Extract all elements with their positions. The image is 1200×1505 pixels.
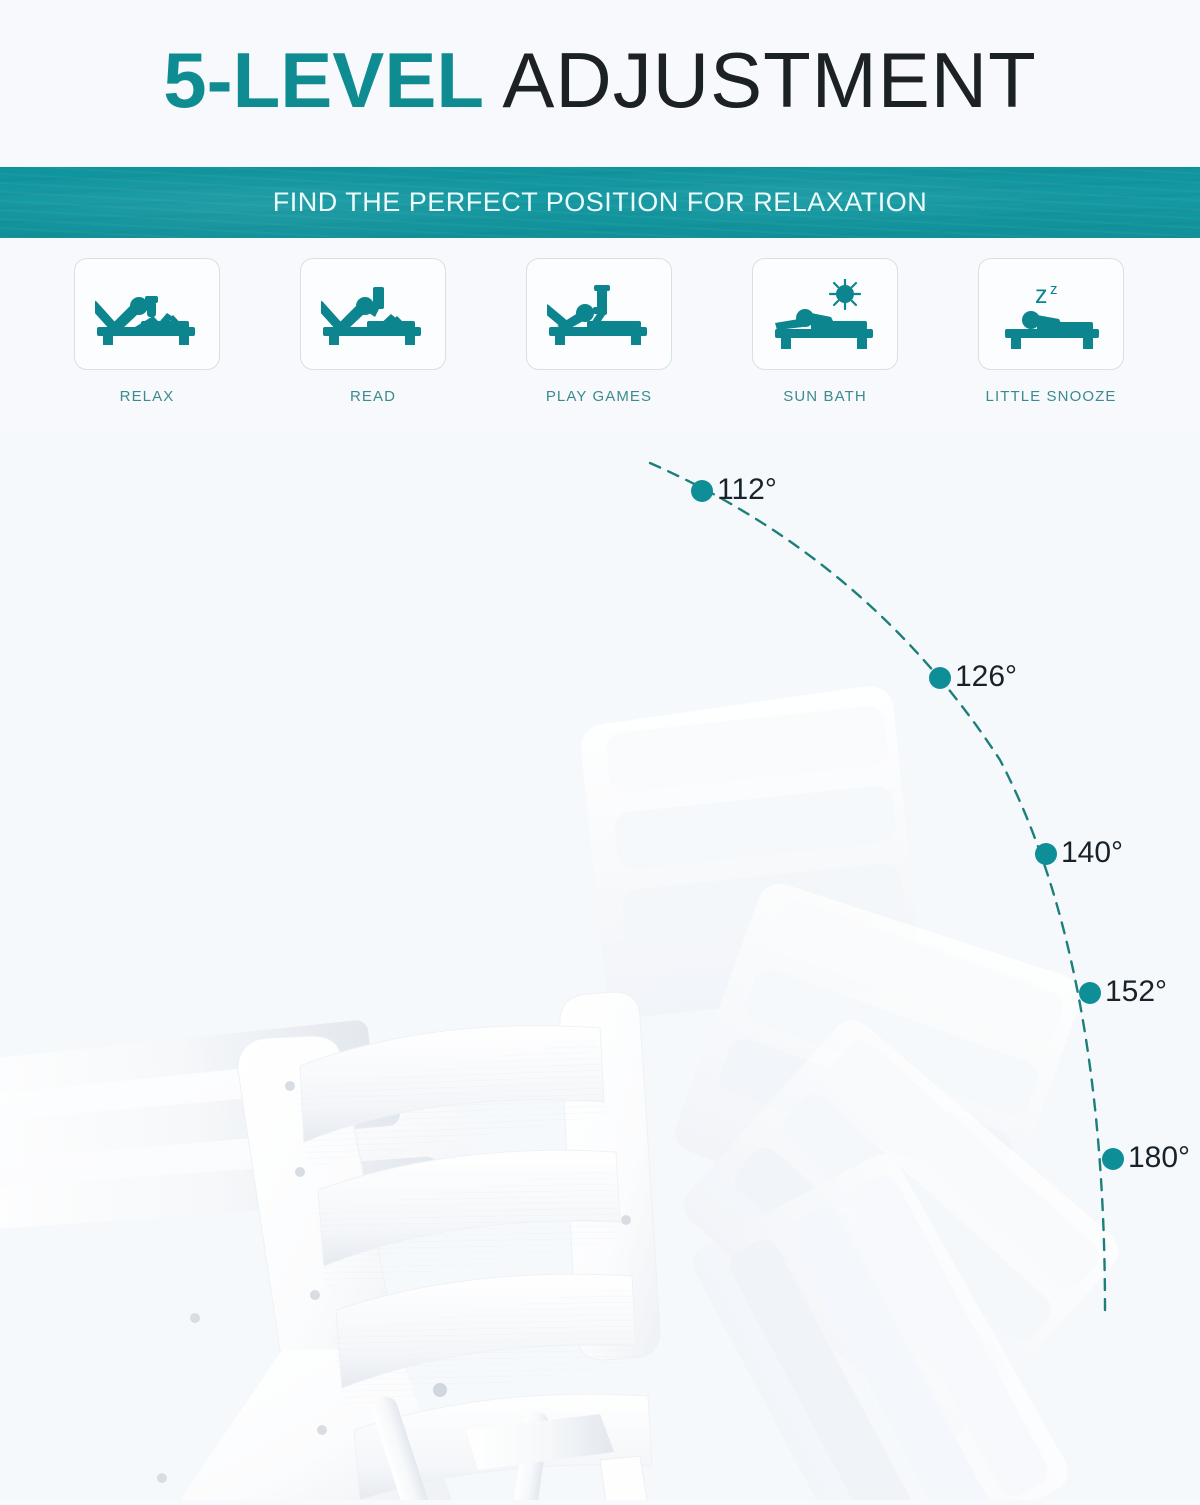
usage-mode-relax[interactable]: RELAX	[74, 258, 220, 405]
usage-mode-sun-bath-label: SUN BATH	[752, 388, 898, 405]
page-title: 5-LEVEL ADJUSTMENT	[163, 41, 1036, 127]
chaise-lounge-illustration	[0, 430, 1200, 1500]
usage-mode-play-games-label: PLAY GAMES	[526, 388, 672, 405]
usage-mode-sun-bath[interactable]: SUN BATH	[752, 258, 898, 405]
usage-modes-row: RELAX READ	[0, 258, 1200, 418]
usage-mode-little-snooze[interactable]: z z LITTLE SNOOZE	[978, 258, 1124, 405]
page-header: 5-LEVEL ADJUSTMENT	[0, 0, 1200, 167]
usage-mode-read-card[interactable]	[300, 258, 446, 370]
subtitle-text: FIND THE PERFECT POSITION FOR RELAXATION	[273, 187, 928, 218]
usage-mode-little-snooze-card[interactable]: z z	[978, 258, 1124, 370]
person-reclining-gaming-icon	[547, 283, 651, 345]
usage-mode-sun-bath-card[interactable]	[752, 258, 898, 370]
usage-mode-relax-card[interactable]	[74, 258, 220, 370]
product-photo	[0, 430, 1200, 1500]
usage-mode-relax-label: RELAX	[74, 388, 220, 405]
person-reclining-relax-icon	[95, 283, 199, 345]
svg-text:z: z	[1050, 281, 1058, 298]
usage-mode-read-label: READ	[300, 388, 446, 405]
usage-mode-read[interactable]: READ	[300, 258, 446, 405]
page-title-rest: ADJUSTMENT	[484, 36, 1037, 124]
usage-mode-play-games-card[interactable]	[526, 258, 672, 370]
usage-mode-little-snooze-label: LITTLE SNOOZE	[978, 388, 1124, 405]
subtitle-band: FIND THE PERFECT POSITION FOR RELAXATION	[0, 167, 1200, 238]
svg-text:z: z	[1035, 281, 1048, 309]
usage-mode-play-games[interactable]: PLAY GAMES	[526, 258, 672, 405]
person-lying-sun-icon	[773, 279, 877, 349]
person-reclining-reading-icon	[321, 283, 425, 345]
person-lying-sleeping-zz-icon: z z	[999, 279, 1103, 349]
page-title-accent: 5-LEVEL	[163, 36, 484, 124]
